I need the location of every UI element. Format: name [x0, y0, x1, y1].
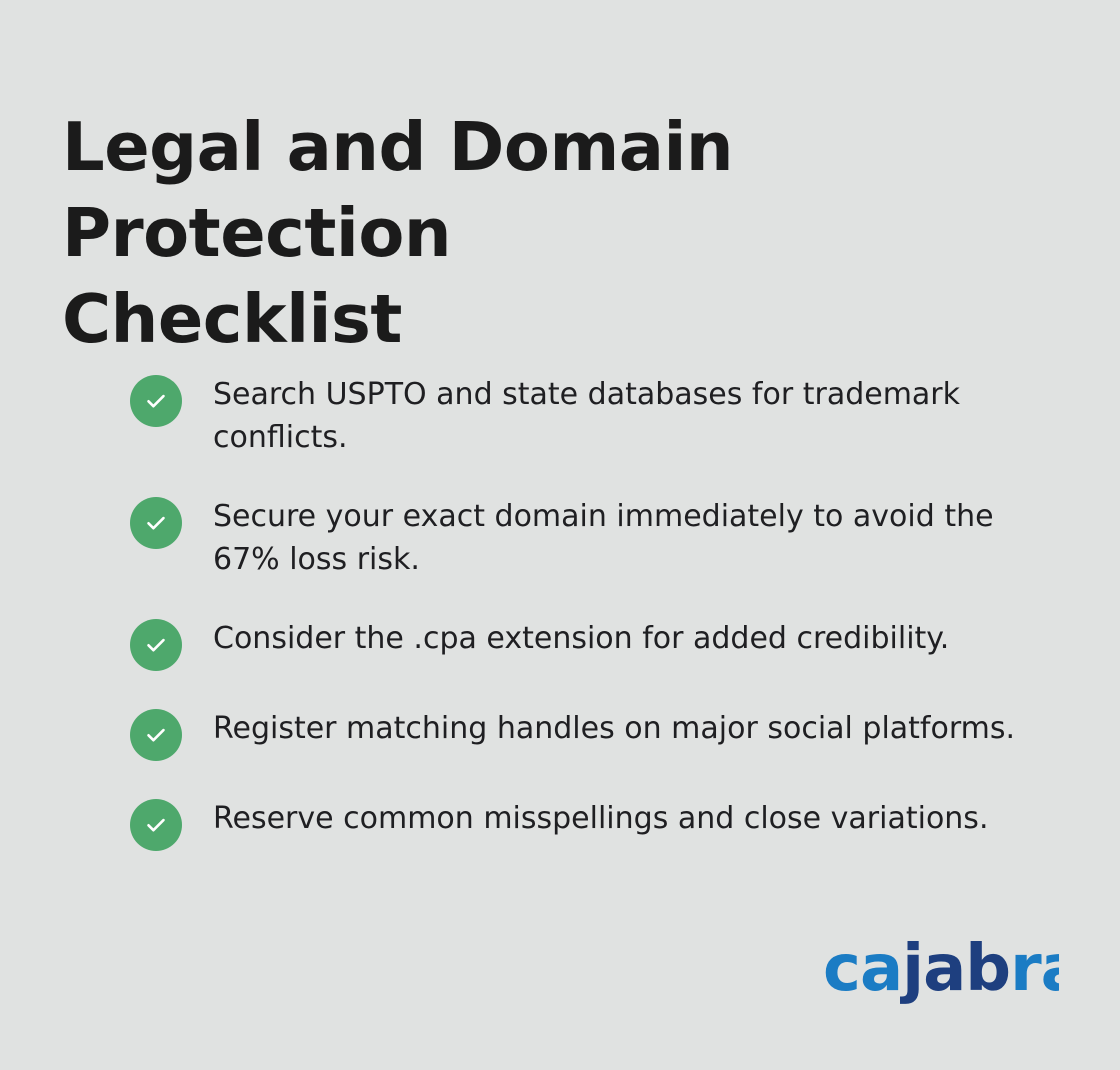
check-circle-icon: [130, 497, 182, 549]
check-circle-icon: [130, 799, 182, 851]
check-circle-icon: [130, 709, 182, 761]
list-item-label: Reserve common misspellings and close va…: [213, 796, 1053, 840]
cajabra-logo: cajabra cajabra: [823, 932, 1059, 1014]
checklist: Search USPTO and state databases for tra…: [130, 372, 1060, 851]
list-item-label: Secure your exact domain immediately to …: [213, 494, 1053, 581]
list-item: Search USPTO and state databases for tra…: [130, 372, 1060, 459]
check-circle-icon: [130, 619, 182, 671]
list-item: Register matching handles on major socia…: [130, 706, 1060, 761]
list-item-label: Search USPTO and state databases for tra…: [213, 372, 1053, 459]
list-item: Reserve common misspellings and close va…: [130, 796, 1060, 851]
page-title: Legal and Domain Protection Checklist: [62, 104, 1022, 362]
list-item-label: Register matching handles on major socia…: [213, 706, 1053, 750]
list-item: Secure your exact domain immediately to …: [130, 494, 1060, 581]
list-item-label: Consider the .cpa extension for added cr…: [213, 616, 1053, 660]
list-item: Consider the .cpa extension for added cr…: [130, 616, 1060, 671]
svg-text:cajabra: cajabra: [823, 932, 1059, 1006]
check-circle-icon: [130, 375, 182, 427]
checklist-card: Legal and Domain Protection Checklist Se…: [0, 0, 1120, 1070]
